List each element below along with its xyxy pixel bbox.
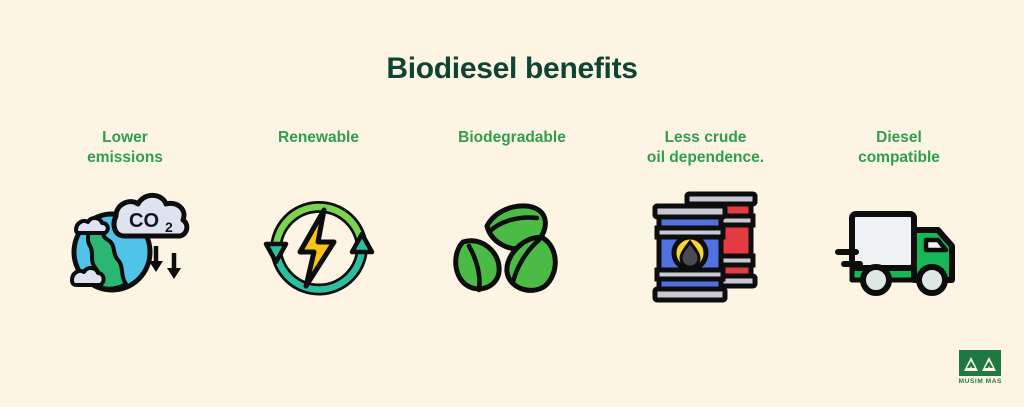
globe-co2-cloud-icon: CO 2 [60,190,190,305]
oil-barrels-icon [641,190,771,305]
recycle-ring-lightning-icon [254,190,384,305]
benefit-item-less-crude-oil: Less crude oil dependence. [611,128,801,305]
co2-cloud-label: CO [129,210,159,232]
truck-wheel-rear [863,267,889,293]
benefits-row: Lower emissions CO 2 [30,128,994,305]
benefit-item-diesel-compatible: Diesel compatible [804,128,994,305]
benefit-item-renewable: Renewable [224,128,414,305]
musim-mas-logo-mark [959,350,1001,376]
musim-mas-logo: MUSIM MAS [959,350,1002,385]
benefit-label: Lower emissions [87,128,163,172]
leaf-icon-left [456,241,499,290]
benefit-item-biodegradable: Biodegradable [417,128,607,305]
truck-wheel-front [919,267,945,293]
benefit-label: Biodegradable [458,128,566,172]
benefit-label: Less crude oil dependence. [647,128,764,172]
three-leaves-recycle-icon [447,190,577,305]
barrel-front [655,206,725,300]
co2-subscript: 2 [165,219,173,235]
benefit-label: Diesel compatible [858,128,940,172]
infographic-canvas: Biodiesel benefits Lower emissions CO [0,0,1024,407]
page-title: Biodiesel benefits [0,52,1024,86]
benefit-item-lower-emissions: Lower emissions CO 2 [30,128,220,305]
delivery-truck-icon [834,190,964,305]
down-arrow-icon [149,246,181,279]
musim-mas-logo-text: MUSIM MAS [959,378,1002,385]
benefit-label: Renewable [278,128,359,172]
